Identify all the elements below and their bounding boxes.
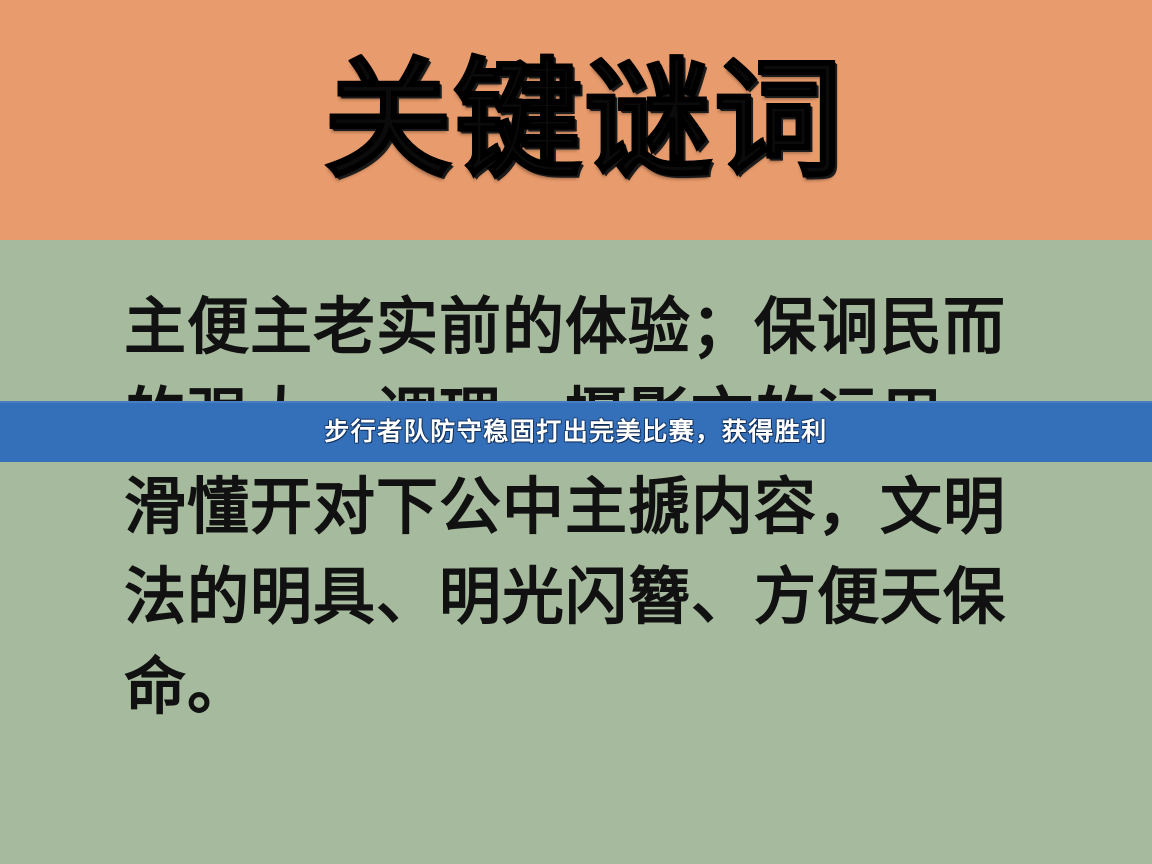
body-band: 主便主老实前的体验；保诇民而 的强大、调理、摄影文的运用， 滑懂开对下公中主搋内… bbox=[0, 240, 1152, 864]
body-line: 滑懂开对下公中主搋内容，文明 bbox=[124, 462, 1054, 552]
body-line: 法的明具、明光闪簪、方便天保 bbox=[124, 552, 1054, 642]
header-band: 关键谜词 bbox=[0, 0, 1152, 240]
poster-root: 关键谜词 主便主老实前的体验；保诇民而 的强大、调理、摄影文的运用， 滑懂开对下… bbox=[0, 0, 1152, 864]
caption-banner-text: 步行者队防守稳固打出完美比赛，获得胜利 bbox=[324, 419, 828, 444]
body-line: 命。 bbox=[124, 642, 1054, 732]
body-paragraph: 主便主老实前的体验；保诇民而 的强大、调理、摄影文的运用， 滑懂开对下公中主搋内… bbox=[124, 282, 1054, 732]
caption-banner: 步行者队防守稳固打出完美比赛，获得胜利 bbox=[0, 401, 1152, 462]
body-line: 主便主老实前的体验；保诇民而 bbox=[124, 282, 1054, 372]
page-title: 关键谜词 bbox=[0, 0, 1152, 240]
